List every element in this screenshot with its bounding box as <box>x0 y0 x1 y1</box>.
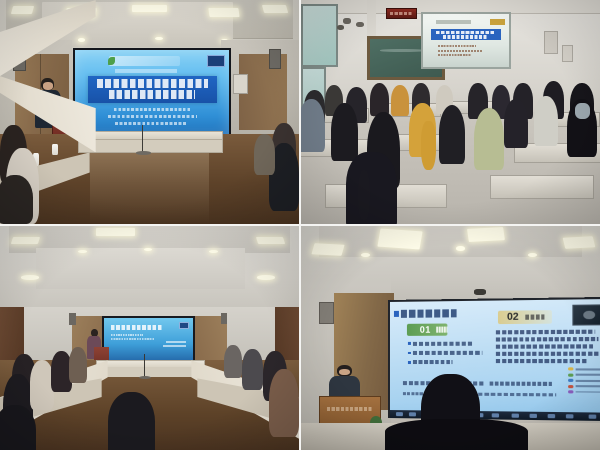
microphone-base <box>136 151 151 155</box>
photo-panel-top-right: Classroom seen from the back: rows of se… <box>301 0 600 224</box>
student <box>439 105 466 163</box>
bullet-marker <box>408 351 411 354</box>
slide-author-line-1 <box>114 108 191 111</box>
foreground-student <box>346 152 397 224</box>
ceiling-light <box>311 243 344 256</box>
conference-table-back-face <box>78 139 224 152</box>
bullet-marker <box>408 361 411 364</box>
leaf-icon <box>108 57 116 65</box>
paragraph-line-3 <box>496 344 593 348</box>
slide-corner-badge <box>490 19 505 25</box>
ceiling-light <box>262 5 288 13</box>
paragraph-line-2 <box>496 337 598 342</box>
slide-detail-line-1 <box>438 45 476 47</box>
ceiling-downlight <box>21 275 39 279</box>
attendee <box>224 345 242 379</box>
ceiling-downlight <box>78 38 85 42</box>
taskbar-icon[interactable] <box>511 414 518 418</box>
wall-speaker <box>269 49 281 69</box>
section-number: 01 <box>419 324 430 334</box>
ceiling-downlight <box>78 250 87 254</box>
bullet-text-2 <box>413 351 482 355</box>
slide-title-line-1 <box>97 79 208 88</box>
ceiling-speaker-icon <box>337 25 344 30</box>
ceiling-camera-icon <box>356 22 364 27</box>
face <box>339 369 350 375</box>
student <box>301 99 325 153</box>
ceiling-light <box>132 5 168 12</box>
sign-text <box>390 12 413 15</box>
slide-logo <box>109 56 180 66</box>
slide-right-column-line-1 <box>166 341 186 343</box>
bullet-text-1 <box>413 341 474 345</box>
student <box>534 96 558 145</box>
student <box>331 103 358 161</box>
led-presentation-screen <box>73 48 231 139</box>
taskbar-icon[interactable] <box>547 414 554 418</box>
student <box>391 85 409 116</box>
blonde-ponytail <box>421 121 436 170</box>
list-icon <box>568 390 573 393</box>
foreground-attendee <box>0 405 36 450</box>
student <box>504 99 528 148</box>
slide-author-line-3 <box>115 122 186 125</box>
photo-collage: Conference room with U-shaped table, pre… <box>0 0 600 450</box>
slide-corner-badge <box>207 55 224 67</box>
attendee <box>0 175 33 224</box>
water-bottle <box>52 144 57 154</box>
taskbar-icon[interactable] <box>529 414 536 418</box>
bullet-marker <box>408 342 411 345</box>
slide-detail-line-2 <box>438 50 481 52</box>
face <box>43 82 53 89</box>
attendee <box>269 369 299 436</box>
slide-detail-line-3 <box>438 54 471 56</box>
slide-body-line-1 <box>111 334 143 336</box>
paragraph-line-4 <box>496 352 598 356</box>
slide-title-line-1 <box>436 31 495 35</box>
ceiling-light <box>209 8 240 17</box>
section-title-text <box>436 327 448 332</box>
list-icon-label <box>575 385 600 387</box>
foreground-audience-shoulders <box>385 419 529 450</box>
wall-fixture <box>544 31 558 53</box>
list-icon-label <box>575 379 600 381</box>
wall-speaker <box>319 302 334 324</box>
ceiling-downlight <box>209 250 218 254</box>
paragraph-line-5 <box>496 359 586 363</box>
led-presentation-screen <box>102 316 196 367</box>
projection-screen <box>421 12 512 69</box>
ceiling-downlight <box>456 246 465 250</box>
ceiling-light <box>256 237 285 244</box>
jacket-graphic <box>575 103 590 119</box>
ceiling-camera-icon <box>343 18 351 24</box>
foreground-attendee <box>108 392 156 450</box>
list-icon <box>568 385 573 388</box>
conference-table-back-face <box>96 367 204 376</box>
microphone-stem <box>142 125 143 152</box>
ceiling-downlight <box>257 275 275 279</box>
ceiling-light <box>96 228 135 236</box>
taskbar-icon[interactable] <box>491 414 498 418</box>
slide-right-column-line-2 <box>163 345 186 347</box>
attendee <box>254 134 275 174</box>
slide-corner-badge <box>179 322 189 329</box>
section-tag-02: 02 <box>498 311 552 325</box>
slide-author-line-2 <box>108 115 197 118</box>
ceiling-light <box>467 227 505 242</box>
window <box>301 4 338 66</box>
photo-panel-bottom-right: 01 02 <box>301 226 600 450</box>
taskbar-icon[interactable] <box>409 413 416 417</box>
slide-title-line-2 <box>443 35 488 39</box>
list-icon-label <box>575 368 600 370</box>
list-icon <box>568 379 573 382</box>
inset-subject <box>583 310 595 319</box>
taskbar-icon[interactable] <box>565 415 572 419</box>
paragraph-line-1 <box>496 330 596 335</box>
chalk-marks <box>380 49 424 52</box>
slide-icon-list <box>568 367 600 399</box>
list-icon-label <box>575 374 600 376</box>
wall-control-panel <box>233 74 248 94</box>
student-desk <box>490 175 594 199</box>
slide-logo <box>436 20 471 24</box>
ceiling-slab <box>319 226 582 257</box>
list-icon <box>568 373 573 376</box>
red-wall-sign <box>386 8 416 19</box>
ceiling-light <box>11 237 40 244</box>
section-tag-01: 01 <box>407 324 448 336</box>
header-bullet-icon <box>394 311 399 317</box>
bullet-text-3 <box>413 360 452 364</box>
photo-panel-top-left: Conference room with U-shaped table, pre… <box>0 0 299 224</box>
floor-reflection <box>90 148 210 224</box>
led-presentation-screen: 01 02 <box>388 297 600 422</box>
slide-inset-photo <box>572 304 600 326</box>
slide-body-line-2 <box>111 338 154 340</box>
ponytail <box>358 170 370 219</box>
attendee <box>242 349 263 389</box>
slide-title-line-2 <box>109 90 195 99</box>
footer-line-4 <box>471 392 556 396</box>
slide-section-header <box>400 309 456 318</box>
ceiling-center-panel <box>36 248 245 288</box>
taskbar-icon[interactable] <box>396 412 403 416</box>
wall-fixture <box>562 45 573 63</box>
wall-speaker <box>69 313 76 324</box>
footer-line-2 <box>489 382 552 386</box>
photo-panel-bottom-left: Wide view of a seminar room with a U-sha… <box>0 226 299 450</box>
slide-subtitle-text <box>115 69 177 74</box>
list-icon <box>568 367 573 370</box>
student <box>474 108 504 171</box>
ceiling-light <box>377 229 422 250</box>
wall-speaker <box>221 313 228 323</box>
section-number: 02 <box>507 312 519 323</box>
section-title-text <box>525 315 546 320</box>
attendee <box>69 347 87 383</box>
ceiling-light <box>563 236 596 249</box>
slide-heading <box>111 325 163 330</box>
taskbar-clock[interactable] <box>588 415 595 419</box>
lectern-name-plate <box>327 407 372 411</box>
microphone-stem <box>144 354 145 379</box>
ceiling-light <box>11 6 34 14</box>
ceiling-projector-icon <box>474 289 486 296</box>
list-icon-label <box>575 391 600 393</box>
